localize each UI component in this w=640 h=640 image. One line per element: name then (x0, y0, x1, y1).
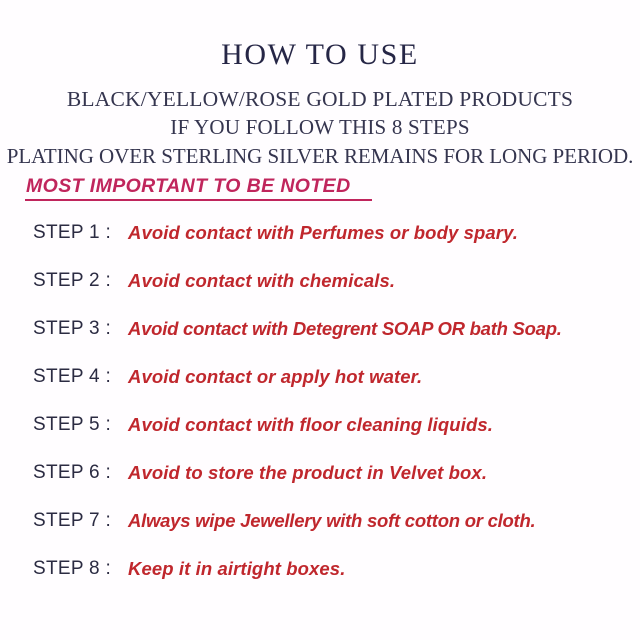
list-item: STEP 6 : Avoid to store the product in V… (0, 462, 640, 510)
steps-list: STEP 1 : Avoid contact with Perfumes or … (0, 222, 640, 606)
header-block: HOW TO USE BLACK/YELLOW/ROSE GOLD PLATED… (0, 0, 640, 171)
step-instruction: Avoid contact or apply hot water. (128, 366, 422, 388)
list-item: STEP 3 : Avoid contact with Detegrent SO… (0, 318, 640, 366)
list-item: STEP 2 : Avoid contact with chemicals. (0, 270, 640, 318)
step-label: STEP 7 : (33, 510, 111, 532)
step-label: STEP 5 : (33, 414, 111, 436)
page-title: HOW TO USE (0, 40, 640, 70)
step-label: STEP 1 : (33, 222, 111, 244)
step-instruction: Keep it in airtight boxes. (128, 558, 345, 580)
care-instructions-page: HOW TO USE BLACK/YELLOW/ROSE GOLD PLATED… (0, 0, 640, 640)
step-instruction: Avoid contact with Perfumes or body spar… (128, 222, 518, 244)
list-item: STEP 7 : Always wipe Jewellery with soft… (0, 510, 640, 558)
step-label: STEP 6 : (33, 462, 111, 484)
step-label: STEP 4 : (33, 366, 111, 388)
list-item: STEP 8 : Keep it in airtight boxes. (0, 558, 640, 606)
step-instruction: Avoid to store the product in Velvet box… (128, 462, 487, 484)
important-notice-heading: MOST IMPORTANT TO BE NOTED (26, 175, 351, 202)
subtitle-line-2: IF YOU FOLLOW THIS 8 STEPS (0, 114, 640, 142)
subtitle-line-3: PLATING OVER STERLING SILVER REMAINS FOR… (0, 143, 640, 171)
step-instruction: Avoid contact with Detegrent SOAP OR bat… (128, 318, 562, 340)
step-label: STEP 8 : (33, 558, 111, 580)
step-instruction: Always wipe Jewellery with soft cotton o… (128, 510, 535, 532)
list-item: STEP 5 : Avoid contact with floor cleani… (0, 414, 640, 462)
step-label: STEP 2 : (33, 270, 111, 292)
step-instruction: Avoid contact with chemicals. (128, 270, 395, 292)
important-notice-underline (25, 199, 372, 201)
list-item: STEP 1 : Avoid contact with Perfumes or … (0, 222, 640, 270)
list-item: STEP 4 : Avoid contact or apply hot wate… (0, 366, 640, 414)
step-instruction: Avoid contact with floor cleaning liquid… (128, 414, 493, 436)
subtitle-line-1: BLACK/YELLOW/ROSE GOLD PLATED PRODUCTS (0, 85, 640, 113)
step-label: STEP 3 : (33, 318, 111, 340)
